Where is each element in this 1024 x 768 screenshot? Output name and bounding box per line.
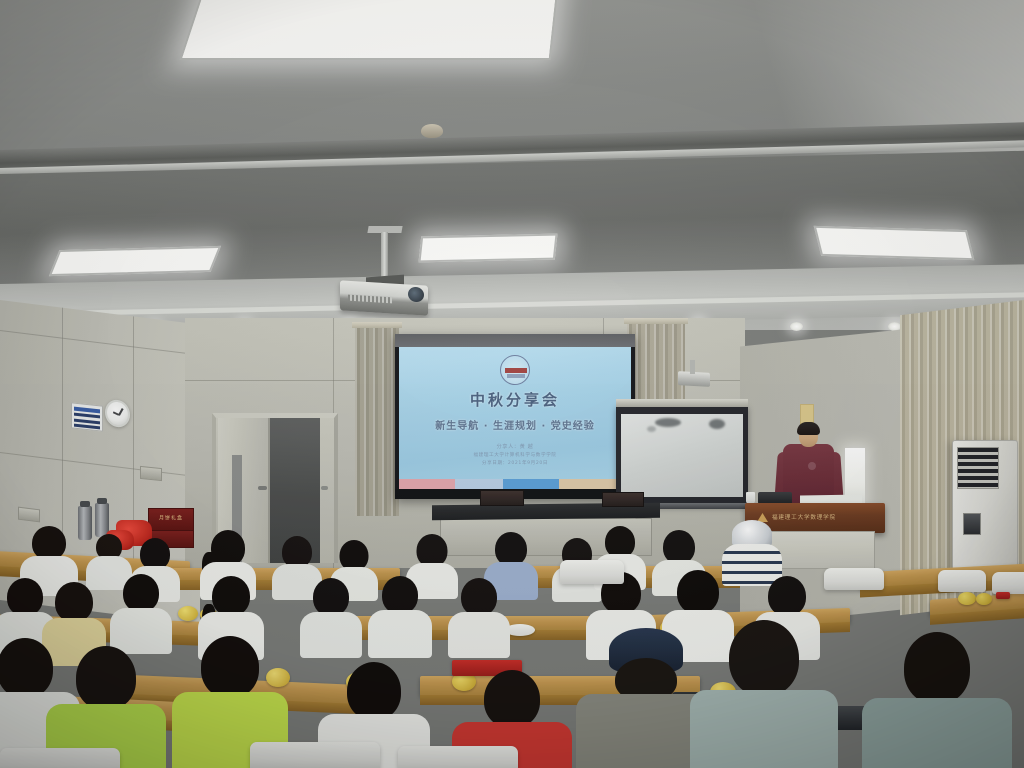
student-head	[677, 570, 719, 614]
chair-back[interactable]	[398, 746, 518, 768]
student-head	[313, 578, 349, 616]
student-head	[663, 530, 695, 564]
audience-area	[0, 520, 1024, 768]
chair-back[interactable]	[250, 742, 380, 768]
student-head	[729, 620, 799, 696]
chair-back[interactable]	[560, 560, 624, 584]
ac-grille	[957, 447, 999, 489]
interactive-whiteboard[interactable]	[616, 406, 748, 506]
ceiling-led-panel-right	[814, 226, 975, 260]
student-head	[382, 576, 418, 614]
whiteboard-surface[interactable]	[621, 414, 743, 497]
chair-back[interactable]	[0, 748, 120, 768]
wall-panel-seam	[0, 452, 200, 478]
student-person	[368, 576, 432, 650]
slide-color-bar-3	[503, 479, 559, 489]
slide-date: 分享日期：2021年9月20日	[399, 460, 631, 466]
presentation-slide: 中秋分享会 新生导航 · 生涯规划 · 党史经验 分享人：黄 越 福建理工大学计…	[399, 347, 631, 489]
slide-title: 中秋分享会	[399, 389, 631, 410]
secondary-projector-pole	[690, 360, 695, 374]
ceiling-led-panel-left	[49, 246, 221, 276]
student-head	[7, 578, 43, 616]
speaker-shirt-logo	[808, 462, 816, 470]
student-head	[123, 574, 159, 612]
university-emblem-icon	[500, 355, 530, 385]
student-head	[32, 526, 66, 560]
whiteboard-smudge	[655, 418, 681, 427]
evacuation-notice-sign	[71, 402, 103, 431]
whiteboard-smudge	[709, 419, 725, 429]
lecture-hall-photo: 中秋分享会 新生导航 · 生涯规划 · 党史经验 分享人：黄 越 福建理工大学计…	[0, 0, 1024, 768]
student-person-front	[690, 620, 838, 768]
projector-lens-icon	[408, 287, 424, 303]
student-body	[368, 610, 432, 658]
ceiling	[0, 0, 1024, 330]
slide-presenter: 分享人：黄 越	[399, 443, 631, 450]
student-head	[55, 582, 93, 622]
student-head	[212, 576, 250, 616]
curtain-rail	[352, 322, 402, 328]
student-head	[347, 662, 401, 720]
whiteboard-rail	[616, 399, 748, 407]
curtain-rail	[624, 318, 688, 324]
student-head	[76, 646, 136, 710]
downlight-icon	[790, 322, 803, 331]
chair-back[interactable]	[824, 568, 884, 590]
whiteboard-smudge	[647, 426, 656, 432]
student-person	[110, 574, 172, 646]
door-handle[interactable]	[258, 486, 267, 490]
projector-mount-pole	[381, 232, 388, 280]
student-head	[495, 532, 527, 566]
student-body-teal	[690, 690, 838, 768]
smoke-detector-icon	[421, 124, 443, 138]
student-head	[201, 636, 259, 698]
projection-screen: 中秋分享会 新生导航 · 生涯规划 · 党史经验 分享人：黄 越 福建理工大学计…	[395, 334, 635, 499]
slide-color-bar-1	[399, 479, 455, 489]
slide-organization: 福建理工大学计算机科学与数学学院	[399, 452, 631, 458]
student-body-teal	[862, 698, 1012, 768]
speaker-hair	[797, 422, 820, 435]
pomelo-fruit	[178, 606, 198, 621]
student-head	[904, 632, 970, 704]
student-person	[300, 578, 362, 650]
student-person	[448, 578, 510, 650]
student-body	[448, 612, 510, 658]
wall-panel-seam	[0, 330, 200, 356]
door-handle[interactable]	[321, 486, 328, 490]
student-person-front	[862, 632, 1012, 768]
student-person	[20, 526, 78, 584]
slide-color-bar-2	[455, 479, 504, 489]
console-equipment	[480, 490, 524, 506]
ceiling-led-panel-center	[418, 234, 557, 263]
student-head	[461, 578, 497, 616]
window-curtain-left	[355, 326, 399, 516]
ceiling-led-panel-main	[179, 0, 561, 60]
screen-top-band	[395, 334, 635, 347]
slide-subtitle: 新生导航 · 生涯规划 · 党史经验	[399, 417, 631, 432]
student-body	[300, 612, 362, 658]
wall-socket[interactable]	[140, 466, 162, 481]
console-equipment	[602, 492, 644, 507]
student-head	[484, 670, 540, 728]
student-head	[768, 576, 806, 616]
